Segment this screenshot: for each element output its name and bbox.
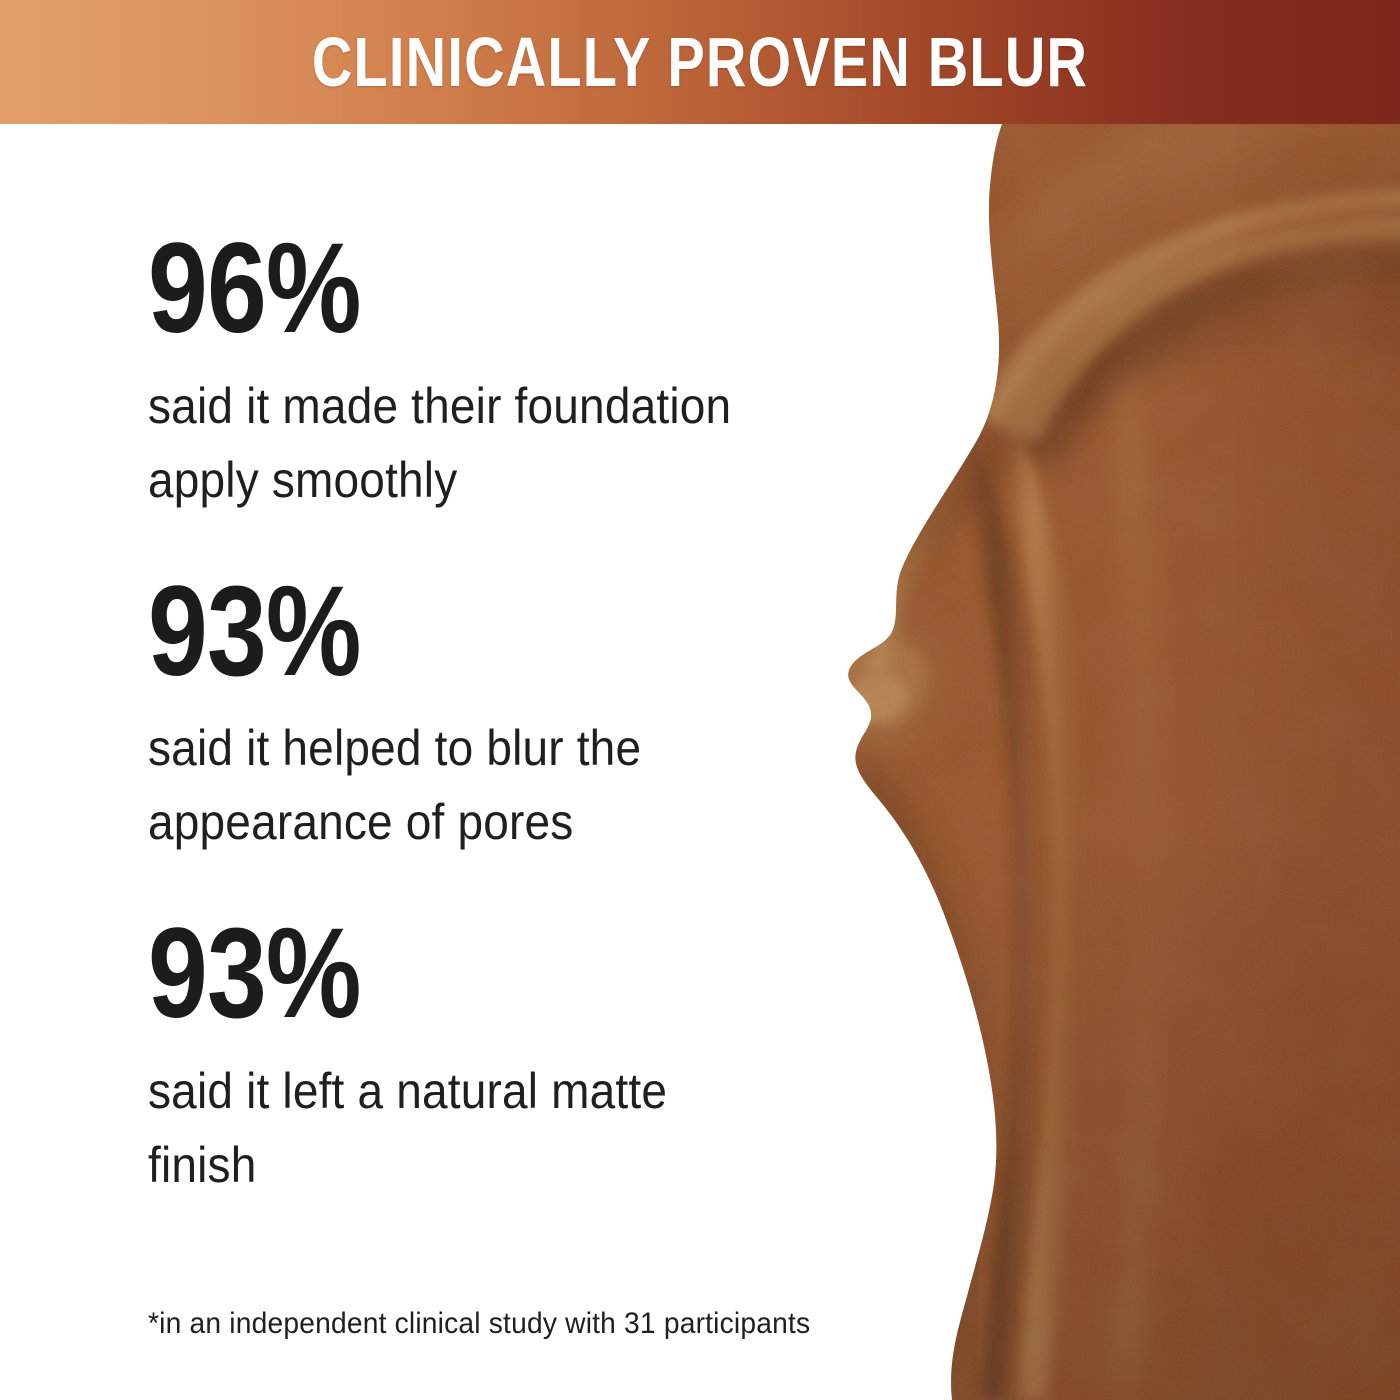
promo-graphic: CLINICALLY PROVEN BLUR [0,0,1400,1400]
stat-description: said it made their foundation apply smoo… [148,369,755,517]
stat-value: 93% [148,567,702,698]
stat-description: said it left a natural matte finish [148,1054,755,1202]
stat-block: 93% said it left a natural matte finish [148,909,808,1202]
stat-block: 93% said it helped to blur the appearanc… [148,567,808,860]
foundation-swatch [780,124,1400,1400]
footnote-disclaimer: *in an independent clinical study with 3… [148,1306,810,1342]
stat-value: 93% [148,909,702,1040]
stat-description: said it helped to blur the appearance of… [148,711,755,859]
page-title: CLINICALLY PROVEN BLUR [140,0,1260,124]
foundation-swatch-illustration [780,124,1400,1400]
swatch-body [780,124,1400,1400]
stat-value: 96% [148,224,702,355]
stat-block: 96% said it made their foundation apply … [148,224,808,517]
statistics-list: 96% said it made their foundation apply … [148,224,808,1202]
